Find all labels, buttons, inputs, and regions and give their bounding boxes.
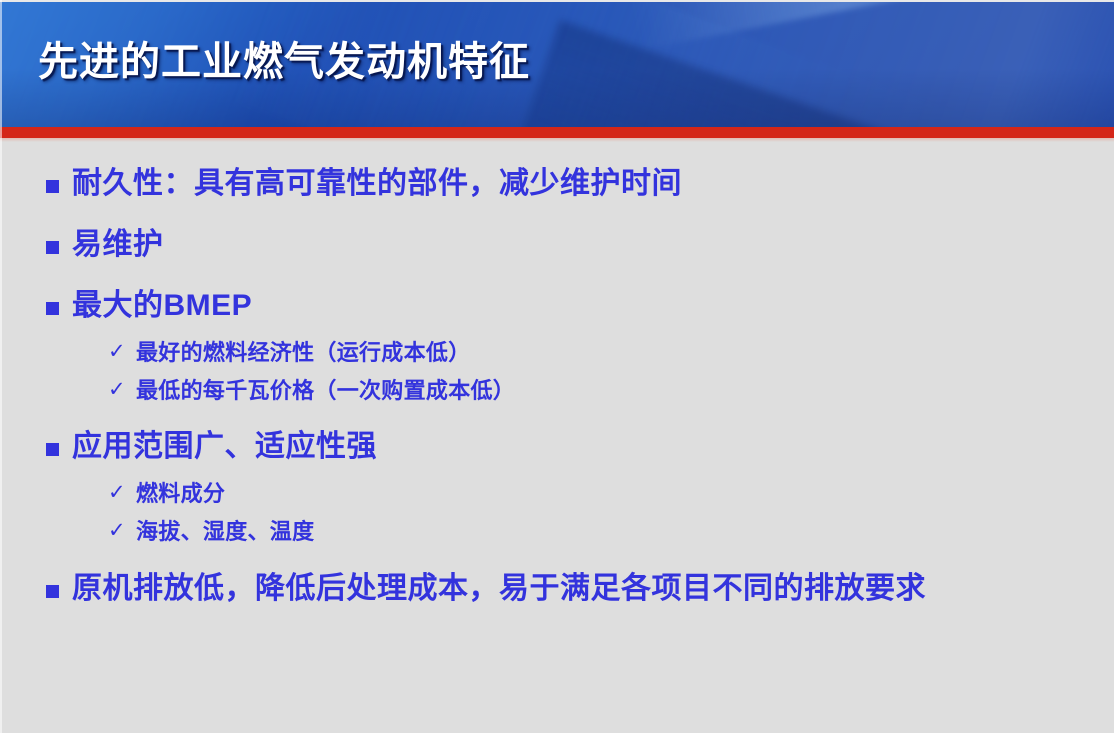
slide-body: 耐久性：具有高可靠性的部件，减少维护时间 易维护 最大的BMEP ✓ 最好的燃料…: [0, 142, 1114, 733]
slide-left-edge: [0, 0, 2, 733]
spacer: [0, 203, 1114, 225]
check-icon: ✓: [108, 377, 130, 404]
sub-bullet-text: 燃料成分: [136, 481, 225, 506]
bullet-item-low-emissions: 原机排放低，降低后处理成本，易于满足各项目不同的排放要求: [0, 569, 1114, 608]
header-diagonal-shadow: [462, 20, 1114, 128]
spacer: [0, 547, 1114, 569]
bullet-list: 耐久性：具有高可靠性的部件，减少维护时间 易维护 最大的BMEP ✓ 最好的燃料…: [0, 142, 1114, 608]
bullet-text: 耐久性：具有高可靠性的部件，减少维护时间: [72, 167, 682, 200]
presentation-slide: 先进的工业燃气发动机特征 耐久性：具有高可靠性的部件，减少维护时间 易维护 最大…: [0, 0, 1114, 733]
bullet-item-wide-application: 应用范围广、适应性强: [0, 427, 1114, 466]
sub-bullet-text: 最低的每千瓦价格（一次购置成本低）: [136, 378, 515, 403]
red-divider-bar: [0, 127, 1114, 138]
bullet-text: 最大的BMEP: [72, 289, 252, 322]
sub-bullet-fuel-economy: ✓ 最好的燃料经济性（运行成本低）: [0, 339, 1114, 367]
square-bullet-icon: [46, 302, 59, 315]
check-icon: ✓: [108, 480, 130, 507]
check-icon: ✓: [108, 518, 130, 545]
square-bullet-icon: [46, 585, 59, 598]
bullet-item-max-bmep: 最大的BMEP: [0, 286, 1114, 325]
slide-title: 先进的工业燃气发动机特征: [38, 39, 530, 85]
bullet-text: 原机排放低，降低后处理成本，易于满足各项目不同的排放要求: [72, 572, 926, 605]
slide-top-edge: [0, 0, 1114, 2]
spacer: [0, 508, 1114, 518]
bullet-item-durability: 耐久性：具有高可靠性的部件，减少维护时间: [0, 164, 1114, 203]
square-bullet-icon: [46, 180, 59, 193]
spacer: [0, 405, 1114, 427]
sub-bullet-fuel-composition: ✓ 燃料成分: [0, 480, 1114, 508]
bullet-text: 易维护: [72, 228, 164, 261]
bullet-text: 应用范围广、适应性强: [72, 430, 377, 463]
sub-bullet-text: 最好的燃料经济性（运行成本低）: [136, 340, 471, 365]
spacer: [0, 367, 1114, 377]
square-bullet-icon: [46, 443, 59, 456]
header-highlight-sliver: [627, 0, 1114, 50]
sub-bullet-altitude-humidity-temperature: ✓ 海拔、湿度、温度: [0, 518, 1114, 546]
sub-bullet-text: 海拔、湿度、温度: [136, 519, 314, 544]
check-icon: ✓: [108, 339, 130, 366]
spacer: [0, 325, 1114, 339]
spacer: [0, 466, 1114, 480]
square-bullet-icon: [46, 241, 59, 254]
bullet-item-easy-maintenance: 易维护: [0, 225, 1114, 264]
spacer: [0, 264, 1114, 286]
sub-bullet-lowest-price-per-kw: ✓ 最低的每千瓦价格（一次购置成本低）: [0, 377, 1114, 405]
